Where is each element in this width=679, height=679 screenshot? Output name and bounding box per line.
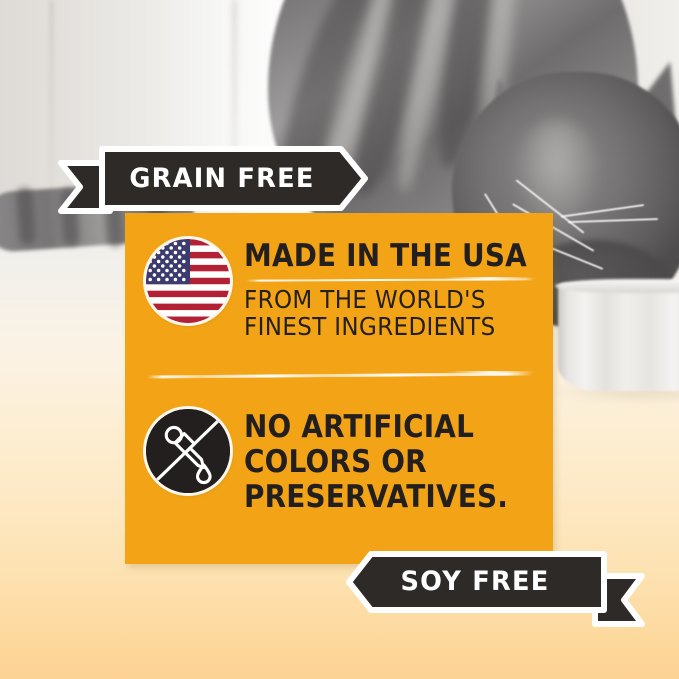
claim-no-artificial: NO ARTIFICIAL COLORS OR PRESERVATIVES. (146, 409, 537, 515)
claim-headline: MADE IN THE USA (244, 240, 527, 272)
claim-no-artificial-text: NO ARTIFICIAL COLORS OR PRESERVATIVES. (244, 409, 537, 515)
banner-soy-free: SOY FREE (345, 548, 645, 630)
claims-panel: MADE IN THE USA FROM THE WORLD'S FINEST … (125, 213, 553, 564)
no-dropper-icon (146, 409, 230, 493)
brush-underline (244, 276, 536, 283)
claim-headline-line-3: PRESERVATIVES. (244, 480, 508, 515)
usa-flag-circle-icon (146, 239, 230, 323)
claim-headline-line-1: NO ARTIFICIAL (244, 410, 508, 445)
claim-made-in-usa: MADE IN THE USA FROM THE WORLD'S FINEST … (146, 239, 558, 340)
claim-made-in-usa-text: MADE IN THE USA FROM THE WORLD'S FINEST … (244, 239, 558, 340)
marketing-graphic: MADE IN THE USA FROM THE WORLD'S FINEST … (0, 0, 679, 679)
claim-headline-line-2: COLORS OR (244, 445, 508, 480)
claim-subline-2: FINEST INGREDIENTS (244, 313, 533, 340)
ribbon-body (102, 149, 365, 208)
claim-subline-1: FROM THE WORLD'S (244, 286, 533, 313)
food-bowl (558, 283, 679, 391)
ribbon-body (349, 554, 604, 610)
banner-grain-free: GRAIN FREE (58, 143, 368, 215)
section-divider (147, 370, 537, 379)
